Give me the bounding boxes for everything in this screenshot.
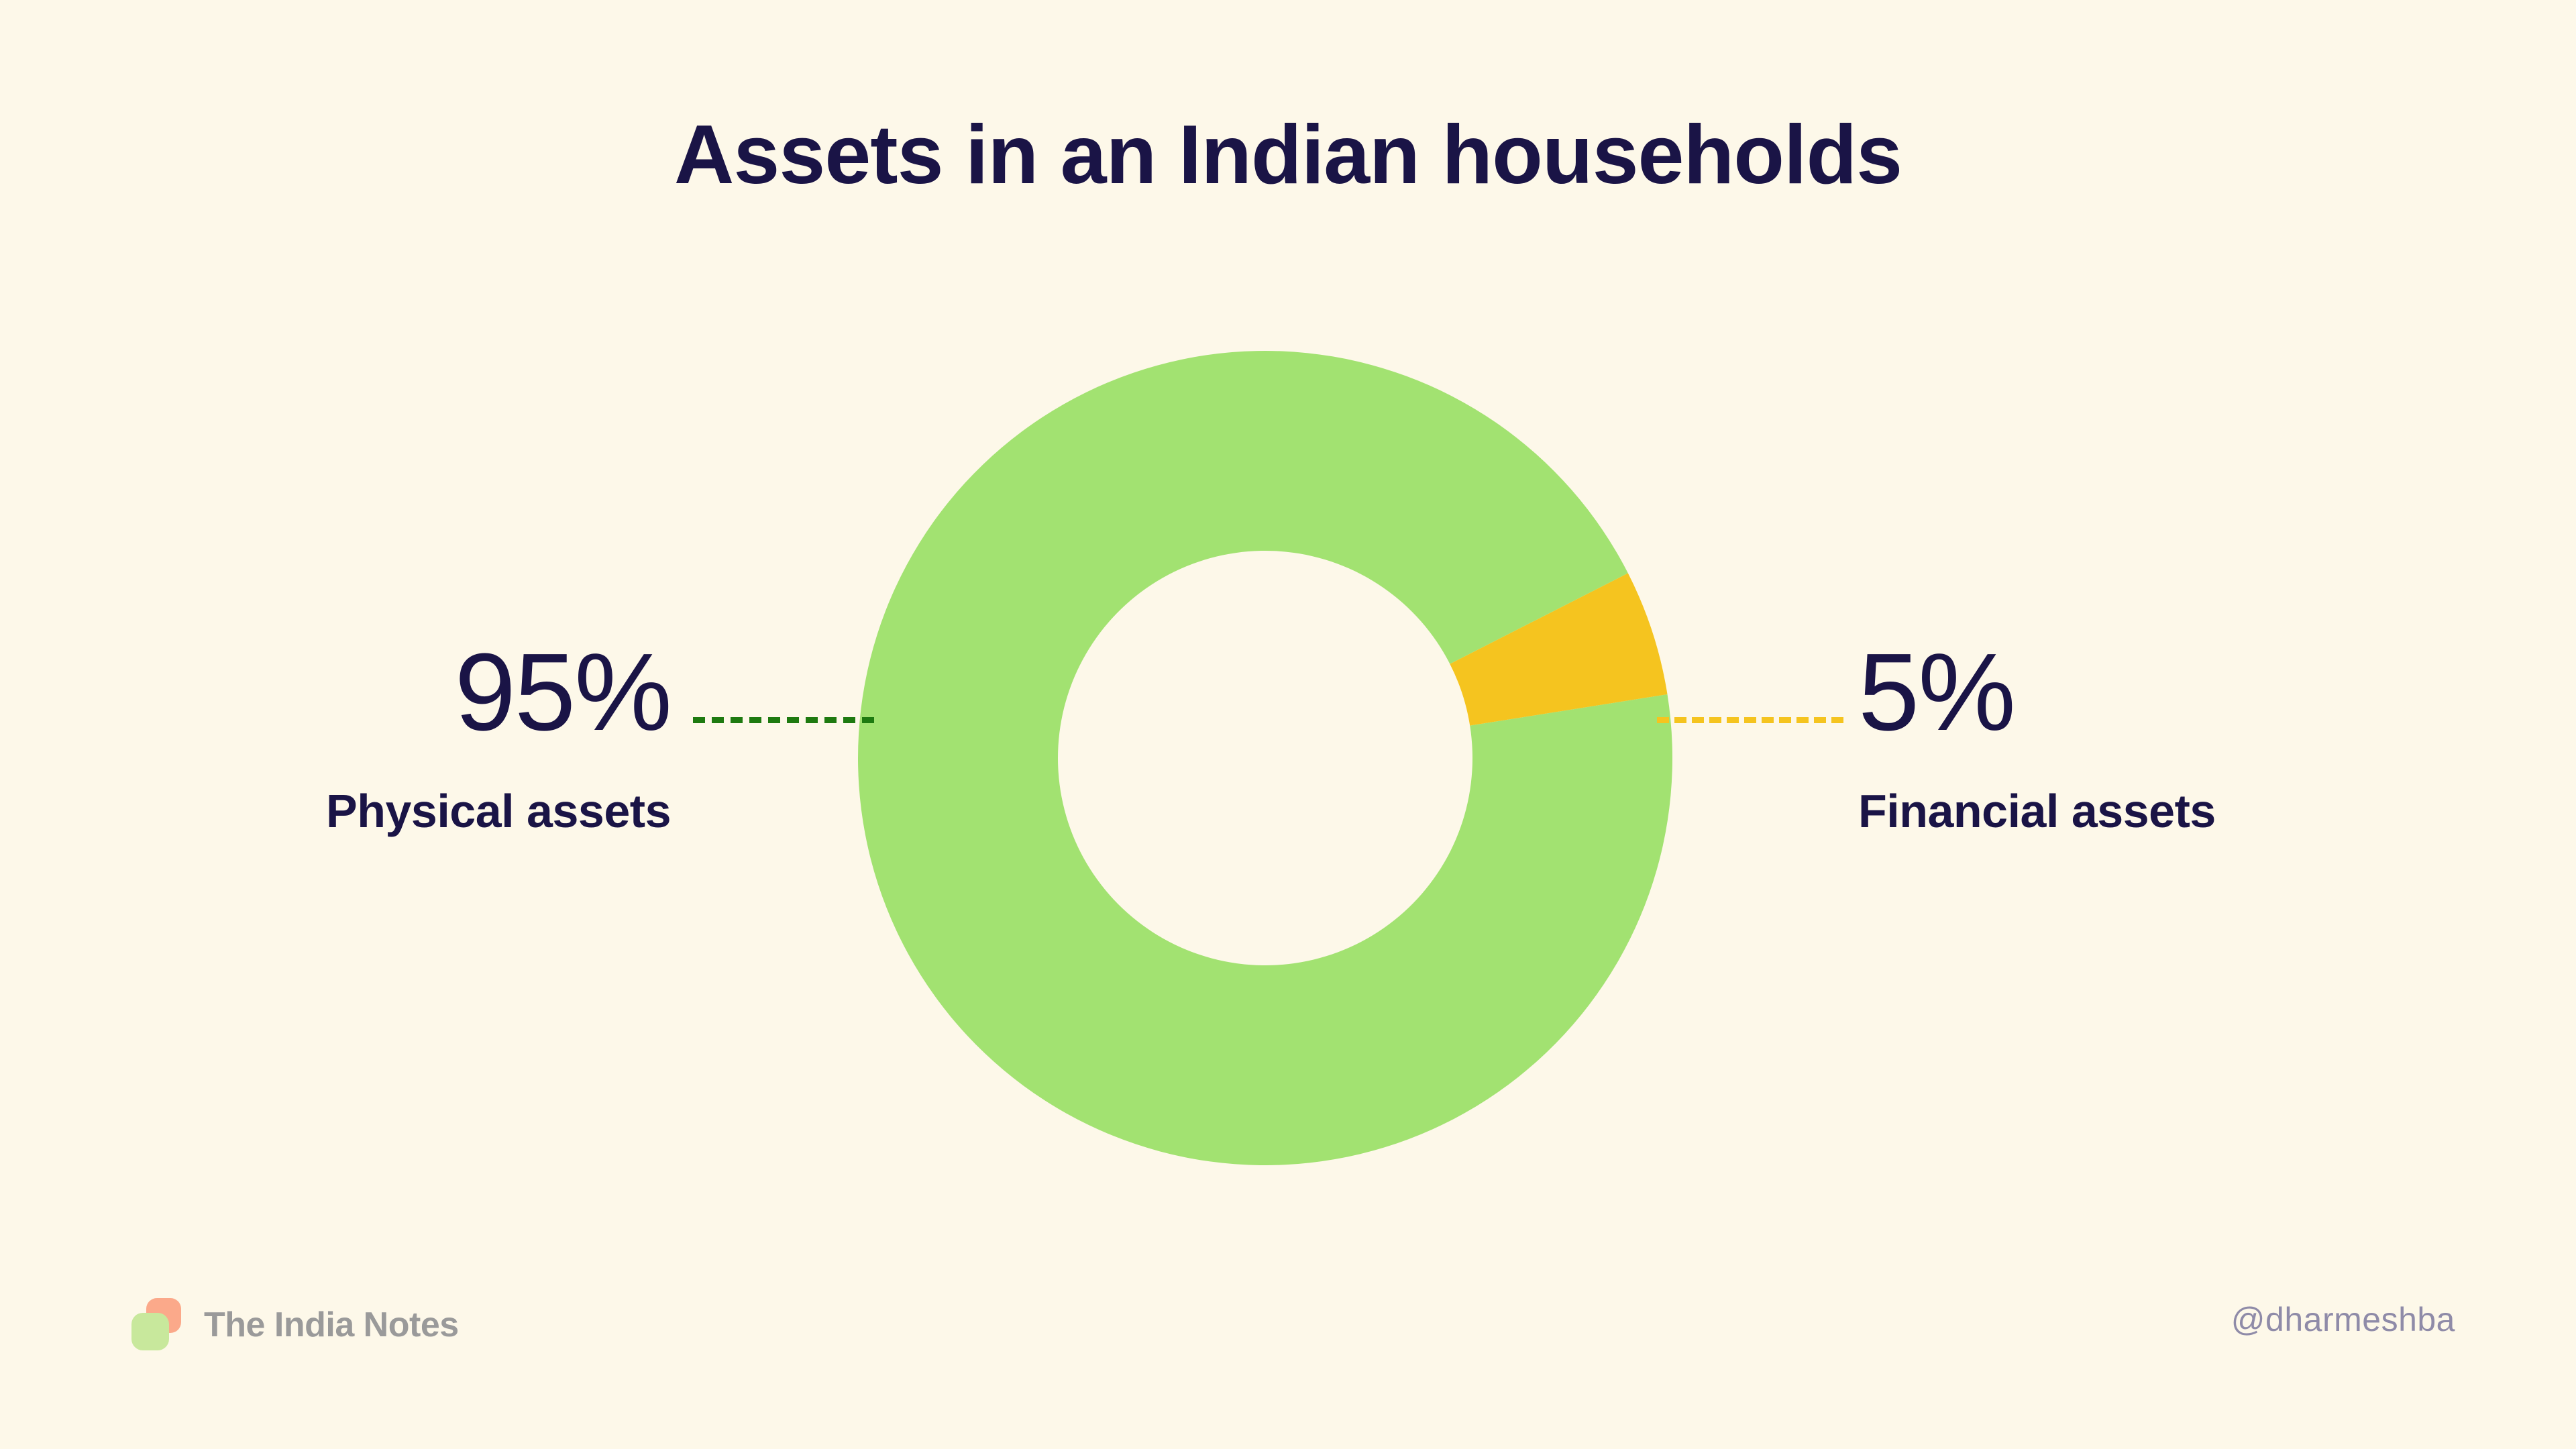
callout-category-left: Physical assets bbox=[0, 788, 671, 835]
brand-logo: The India Notes bbox=[129, 1288, 459, 1362]
author-handle: @dharmeshba bbox=[2231, 1300, 2455, 1339]
leader-line-left bbox=[693, 717, 874, 723]
callout-financial-assets: 5% Financial assets bbox=[1858, 637, 2462, 835]
callout-percent-right: 5% bbox=[1858, 637, 2462, 747]
callout-physical-assets: 95% Physical assets bbox=[0, 637, 671, 835]
callout-percent-left: 95% bbox=[0, 637, 671, 747]
logo-square-front bbox=[131, 1313, 169, 1350]
leader-line-right bbox=[1657, 717, 1843, 723]
brand-name-label: The India Notes bbox=[204, 1305, 459, 1345]
donut-chart-svg bbox=[858, 351, 1672, 1165]
page-title: Assets in an Indian households bbox=[0, 107, 2576, 203]
callout-category-right: Financial assets bbox=[1858, 788, 2462, 835]
chart-canvas: Assets in an Indian households 95% Physi… bbox=[0, 0, 2576, 1449]
donut-chart bbox=[858, 351, 1672, 1165]
logo-squares-icon bbox=[129, 1297, 185, 1353]
donut-slice-physical-assets[interactable] bbox=[858, 351, 1672, 1165]
